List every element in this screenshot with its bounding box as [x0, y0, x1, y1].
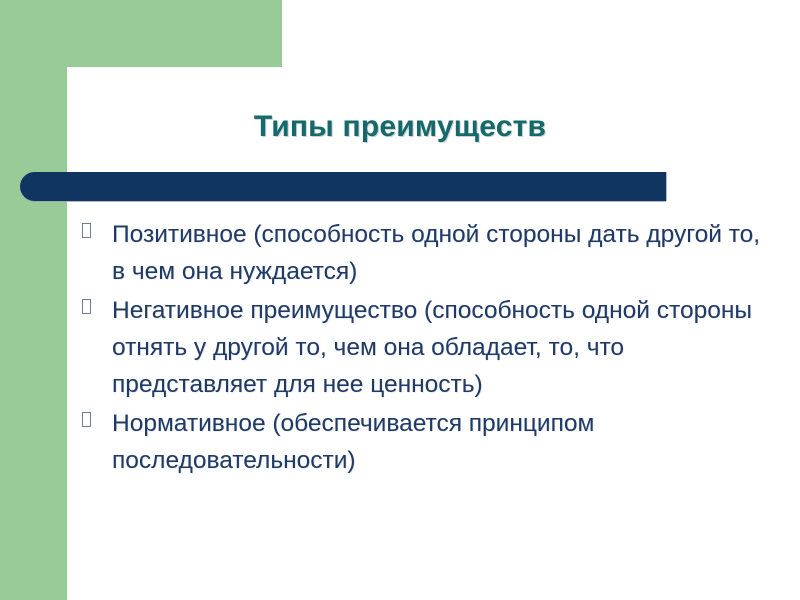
tofu-box-icon — [82, 405, 112, 427]
slide-canvas: Типы преимуществ Позитивное (способность… — [0, 0, 800, 600]
slide-title: Типы преимуществ — [130, 108, 670, 146]
tofu-box-icon — [82, 292, 112, 314]
list-item: Позитивное (способность одной стороны да… — [82, 216, 772, 290]
tofu-box-icon — [82, 216, 112, 238]
list-item-text: Нормативное (обеспечивается принципом по… — [112, 405, 772, 479]
list-item-text: Позитивное (способность одной стороны да… — [112, 216, 772, 290]
bullet-list: Позитивное (способность одной стороны да… — [82, 216, 772, 481]
list-item: Негативное преимущество (способность одн… — [82, 292, 772, 403]
title-divider-rule — [20, 172, 666, 201]
list-item: Нормативное (обеспечивается принципом по… — [82, 405, 772, 479]
list-item-text: Негативное преимущество (способность одн… — [112, 292, 772, 403]
